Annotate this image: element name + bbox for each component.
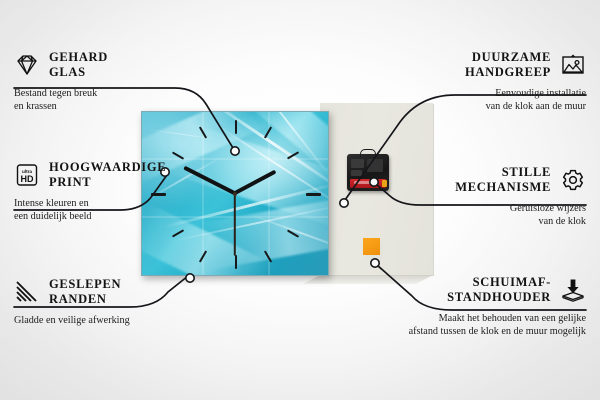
feature-description: Gladde en veilige afwerking [14,314,229,327]
feature-stille-mechanisme: STILLEMECHANISME Geruisloze wijzersvan d… [371,165,586,228]
feature-description: Intense kleuren eneen duidelijk beeld [14,197,229,224]
feature-duurzame-handgreep: DUURZAMEHANDGREEP Eenvoudige installatie… [371,50,586,113]
svg-text:HD: HD [21,174,34,184]
feature-hoogwaardige-print: ultra HD HOOGWAARDIGEPRINT Intense kleur… [14,160,229,223]
feature-title: STILLEMECHANISME [455,165,551,196]
ultra-hd-badge-icon: ultra HD [14,163,40,187]
feature-title: HOOGWAARDIGEPRINT [49,160,166,191]
feature-title: GESLEPENRANDEN [49,277,121,308]
foam-spacer-pad [363,238,380,255]
feature-title: DUURZAMEHANDGREEP [465,50,551,81]
picture-frame-icon [560,53,586,77]
feature-schuimaf-standhouder: SCHUIMAF-STANDHOUDER Maakt het behouden … [371,275,586,338]
feature-geslepen-randen: GESLEPENRANDEN Gladde en veilige afwerki… [14,277,229,327]
down-arrow-platform-icon [560,278,586,302]
feature-description: Eenvoudige installatievan de klok aan de… [371,87,586,114]
clock-pivot [233,192,237,196]
diamond-icon [14,53,40,77]
beveled-edges-icon [14,280,40,304]
feature-title: GEHARDGLAS [49,50,108,81]
feature-title: SCHUIMAF-STANDHOUDER [447,275,551,306]
feature-description: Bestand tegen breuken krassen [14,87,229,114]
clock-second-hand [234,194,236,256]
feature-description: Maakt het behouden van een gelijkeafstan… [371,312,586,339]
feature-description: Geruisloze wijzersvan de klok [371,202,586,229]
gear-icon [560,168,586,192]
infographic-stage: GEHARDGLAS Bestand tegen breuken krassen… [0,0,600,400]
feature-gehard-glas: GEHARDGLAS Bestand tegen breuken krassen [14,50,229,113]
clock-hour-hand [234,170,277,195]
mechanism-hanger [360,149,376,157]
